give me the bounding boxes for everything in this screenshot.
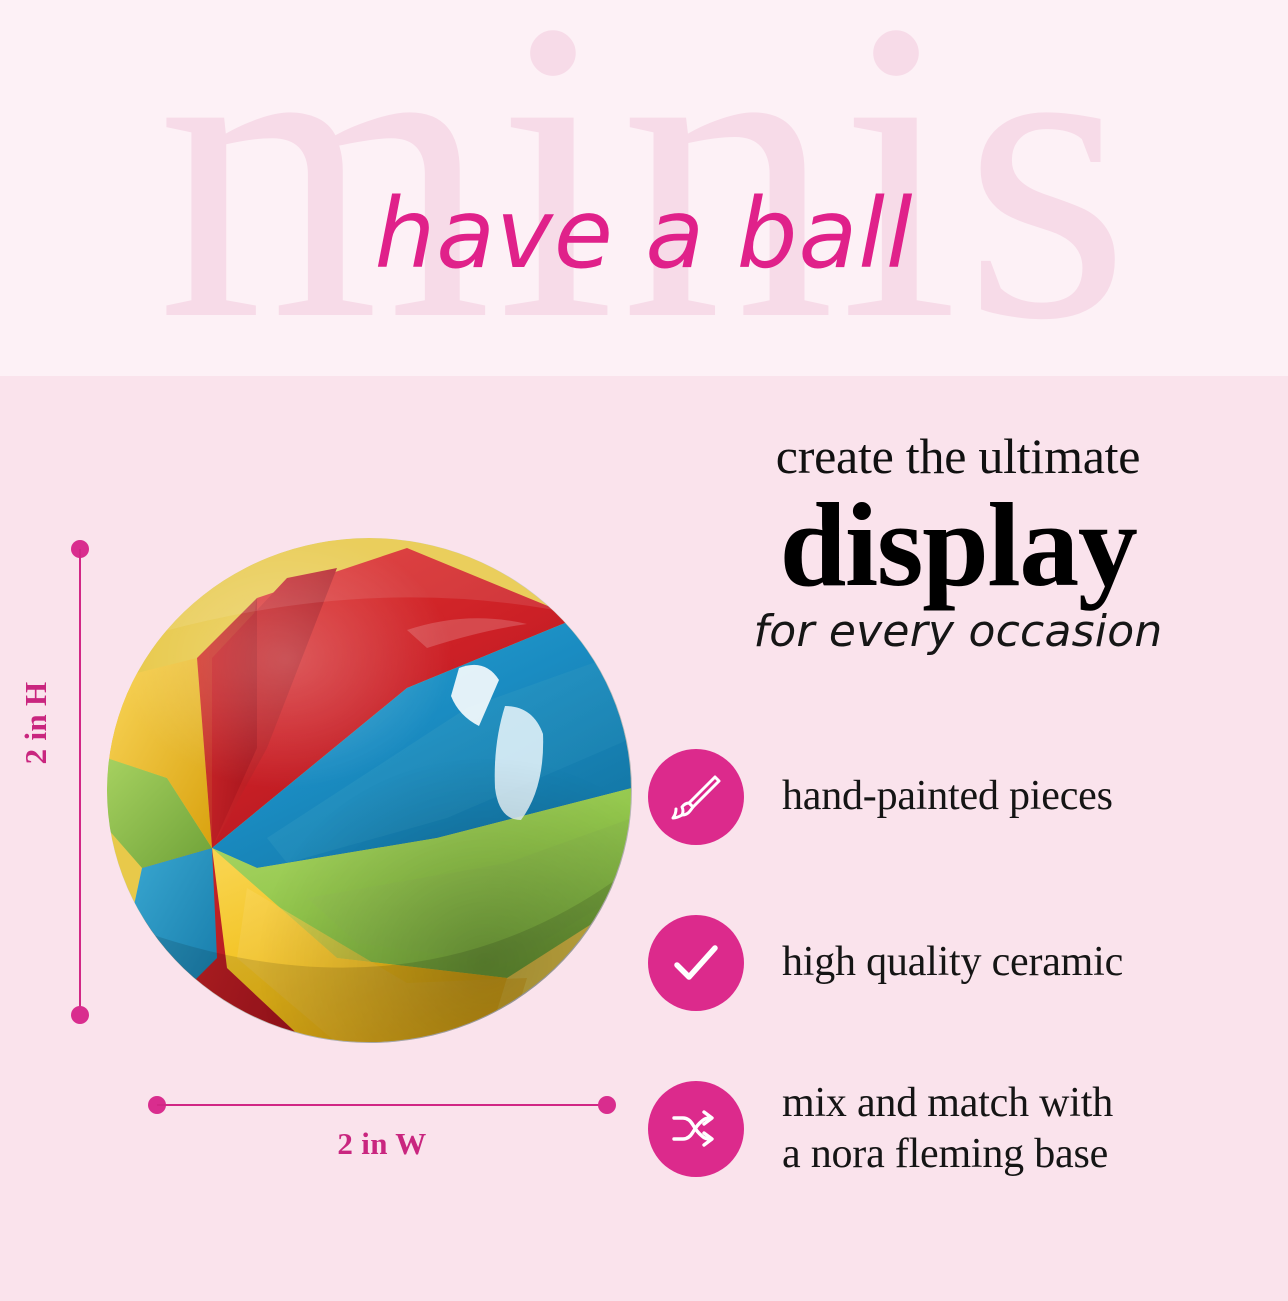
product-info-poster: minis have a ball 2 in H	[0, 0, 1288, 1301]
width-measure-bar	[157, 1104, 607, 1106]
feature-label: hand-painted pieces	[782, 771, 1113, 822]
feature-list: hand-painted pieces high quality ceramic	[648, 744, 1278, 1182]
page-title: have a ball	[0, 186, 1288, 282]
height-measure-line	[78, 540, 82, 1024]
width-measure-dot-right	[598, 1096, 616, 1114]
check-icon	[648, 915, 744, 1011]
feature-label: high quality ceramic	[782, 937, 1123, 988]
width-label: 2 in W	[148, 1126, 616, 1162]
product-image	[107, 538, 632, 1048]
shuffle-icon	[648, 1081, 744, 1177]
beach-ball-graphic	[107, 538, 632, 1043]
feature-item-quality: high quality ceramic	[648, 910, 1278, 1016]
feature-label-line2: a nora fleming base	[782, 1129, 1113, 1180]
promo-kicker: create the ultimate	[648, 430, 1268, 483]
height-measure-bar	[79, 549, 81, 1015]
promo-subline: for every occasion	[648, 609, 1268, 655]
paintbrush-icon	[648, 749, 744, 845]
width-measure-line	[148, 1096, 616, 1114]
feature-item-mix-match: mix and match with a nora fleming base	[648, 1076, 1278, 1182]
promo-block: create the ultimate display for every oc…	[648, 430, 1268, 655]
product-dimension-zone: 2 in H	[0, 420, 650, 1210]
promo-display-word: display	[648, 485, 1268, 605]
feature-label: mix and match with a nora fleming base	[782, 1078, 1113, 1180]
height-measure-dot-bottom	[71, 1006, 89, 1024]
feature-item-hand-painted: hand-painted pieces	[648, 744, 1278, 850]
feature-label-line1: mix and match with	[782, 1078, 1113, 1129]
height-label: 2 in H	[18, 663, 54, 783]
